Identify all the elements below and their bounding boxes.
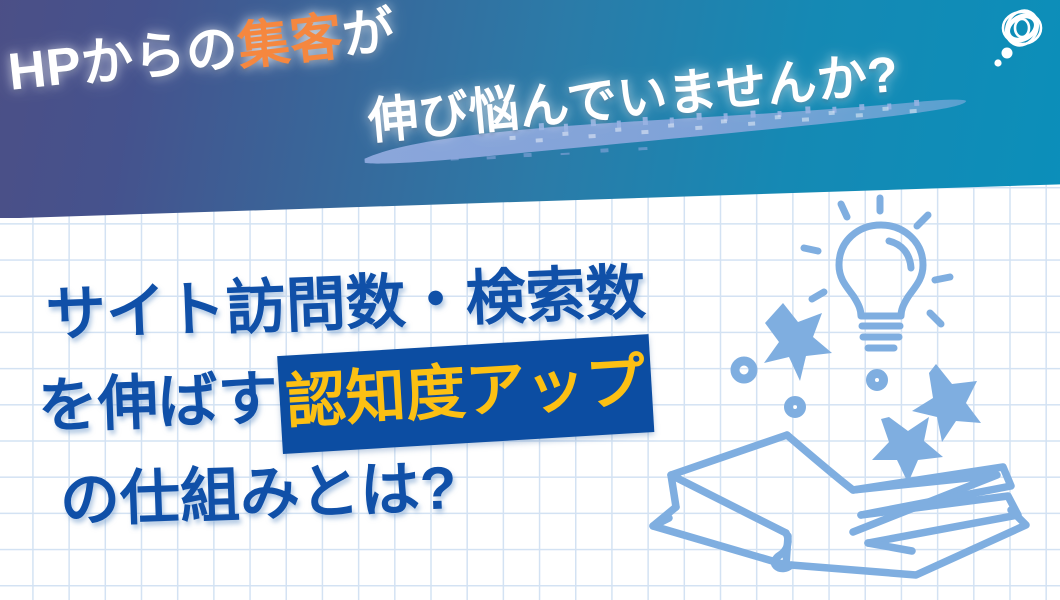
headline-highlight-box: 認知度アップ	[277, 334, 654, 454]
banner-text-post: が	[339, 2, 397, 65]
banner-text-highlight: 集客	[235, 8, 346, 77]
open-book-icon	[653, 435, 1026, 575]
circle-dot-icon	[735, 361, 753, 379]
banner-headline-line-1: HPからの集客が	[4, 0, 398, 105]
star-group	[764, 303, 981, 483]
banner-headline-line-2: 伸び悩んでいませんか?	[365, 34, 901, 154]
illustration-open-book-with-lightbulb	[640, 185, 1060, 600]
banner-text-pre: HPからの	[5, 19, 241, 102]
scribble-thought-logo	[988, 2, 1048, 76]
star-icon	[764, 303, 832, 381]
headline-line-2-prefix: を伸ばす	[37, 365, 279, 440]
star-icon	[872, 417, 943, 483]
main-headline: サイト訪問数・検索数 を伸ばす認知度アップ の仕組みとは?	[38, 272, 738, 546]
circle-dot-icon	[871, 374, 884, 387]
banner-canvas: HPからの集客が 伸び悩んでいませんか? サイト訪問数・検索数 を伸ばす認知度ア…	[0, 0, 1060, 600]
circle-dot-icon	[789, 401, 802, 414]
dot-group	[735, 361, 884, 414]
lightbulb-icon	[804, 198, 950, 348]
